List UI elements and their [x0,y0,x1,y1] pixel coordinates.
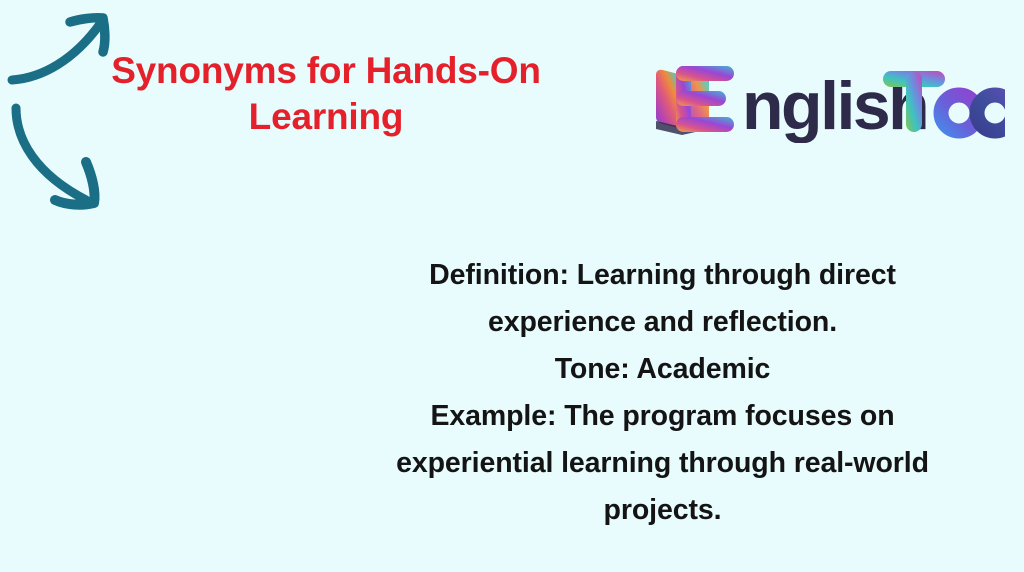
logo-letter-e [676,66,734,132]
example-line-2: experiential learning through real-world [330,440,995,487]
example-line-3: projects. [330,487,995,534]
curved-arrow-up-right-icon [0,0,140,100]
definition-line-2: experience and reflection. [330,299,995,346]
title-line-2: Learning [58,94,594,140]
infographic-canvas: Synonyms for Hands-On Learning [0,0,1024,572]
curved-arrow-down-right-icon [0,100,130,220]
definition-content: Definition: Learning through direct expe… [330,252,995,534]
englishtab-logo: nglish [650,55,1005,143]
tone-line: Tone: Academic [330,346,995,393]
example-line-1: Example: The program focuses on [330,393,995,440]
definition-line-1: Definition: Learning through direct [330,252,995,299]
logo-letter-b [976,69,1005,131]
